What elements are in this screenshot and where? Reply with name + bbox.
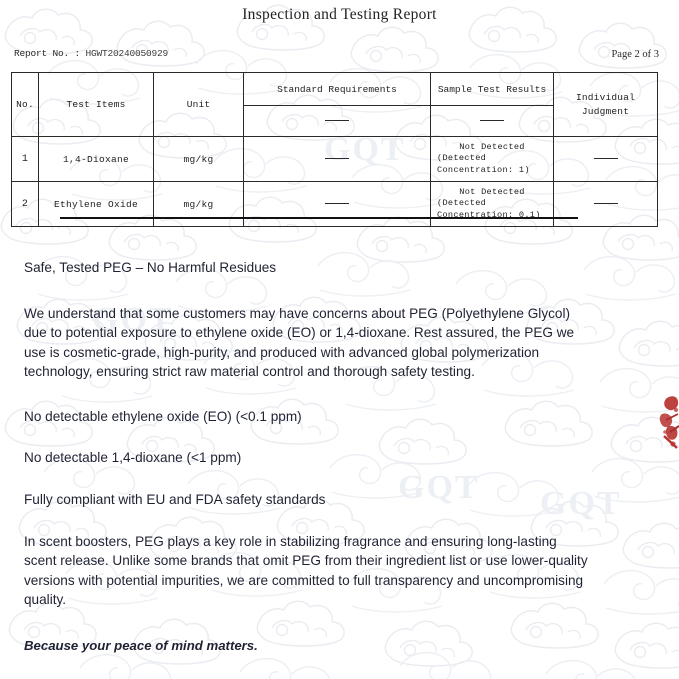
report-number: Report No. : HGWT20240050929 (14, 48, 168, 59)
cell-standard-requirement (244, 137, 431, 182)
cell-unit: mg/kg (154, 182, 244, 227)
copy-headline: Safe, Tested PEG – No Harmful Residues (24, 258, 590, 278)
cell-unit: mg/kg (154, 137, 244, 182)
cell-individual-judgment (554, 182, 658, 227)
table-row: 2 Ethylene Oxide mg/kg Not Detected (Det… (12, 182, 658, 227)
cell-test-item: Ethylene Oxide (39, 182, 154, 227)
copy-role-paragraph: In scent boosters, PEG plays a key role … (24, 532, 590, 610)
subheader-standard-requirements-dash (244, 106, 431, 137)
cell-row-no: 1 (12, 137, 39, 182)
sample-result-detail-line-1: (Detected (433, 198, 551, 209)
red-seal-graphic (653, 392, 679, 464)
cell-test-item: 1,4-Dioxane (39, 137, 154, 182)
em-dash-icon (480, 120, 504, 121)
sample-result-status: Not Detected (433, 187, 551, 198)
em-dash-icon (325, 203, 349, 204)
claim-regulatory-compliance: Fully compliant with EU and FDA safety s… (24, 490, 590, 510)
report-meta-row: Report No. : HGWT20240050929 Page 2 of 3 (0, 48, 679, 68)
em-dash-icon (594, 158, 618, 159)
cell-sample-result: Not Detected (Detected Concentration: 0.… (431, 182, 554, 227)
claim-no-ethylene-oxide: No detectable ethylene oxide (EO) (<0.1 … (24, 407, 590, 427)
marketing-copy: Safe, Tested PEG – No Harmful Residues W… (24, 258, 590, 655)
sample-result-detail-line-1: (Detected (433, 153, 551, 164)
sample-result-detail-line-2: Concentration: 0.1) (433, 210, 551, 221)
test-results-table: No. Test Items Unit Standard Requirement… (11, 72, 658, 227)
report-title: Inspection and Testing Report (0, 0, 679, 24)
sample-result-detail-line-2: Concentration: 1) (433, 165, 551, 176)
sample-result-status: Not Detected (433, 142, 551, 153)
column-header-unit: Unit (154, 73, 244, 137)
cell-sample-result: Not Detected (Detected Concentration: 1) (431, 137, 554, 182)
column-header-no: No. (12, 73, 39, 137)
column-header-individual-judgment: Individual Judgment (554, 73, 658, 137)
cell-row-no: 2 (12, 182, 39, 227)
column-header-sample-test-results: Sample Test Results (431, 73, 554, 106)
em-dash-icon (594, 203, 618, 204)
document-page: Inspection and Testing Report Report No.… (0, 0, 679, 679)
em-dash-icon (325, 158, 349, 159)
inspection-report-scan: Inspection and Testing Report Report No.… (0, 0, 679, 68)
copy-intro-paragraph: We understand that some customers may ha… (24, 304, 590, 382)
page-indicator: Page 2 of 3 (611, 49, 659, 60)
table-row: 1 1,4-Dioxane mg/kg Not Detected (Detect… (12, 137, 658, 182)
report-number-label: Report No. : (14, 48, 80, 59)
report-divider-rule (60, 217, 578, 219)
cell-standard-requirement (244, 182, 431, 227)
subheader-sample-results-dash (431, 106, 554, 137)
claim-no-dioxane: No detectable 1,4-dioxane (<1 ppm) (24, 448, 590, 468)
copy-closing-line: Because your peace of mind matters. (24, 636, 590, 655)
column-header-test-items: Test Items (39, 73, 154, 137)
column-header-standard-requirements: Standard Requirements (244, 73, 431, 106)
table-header-row: No. Test Items Unit Standard Requirement… (12, 73, 658, 106)
individual-judgment-line-1: Individual (576, 92, 635, 103)
individual-judgment-line-2: Judgment (582, 106, 629, 117)
cell-individual-judgment (554, 137, 658, 182)
report-number-value: HGWT20240050929 (86, 48, 169, 59)
em-dash-icon (325, 120, 349, 121)
